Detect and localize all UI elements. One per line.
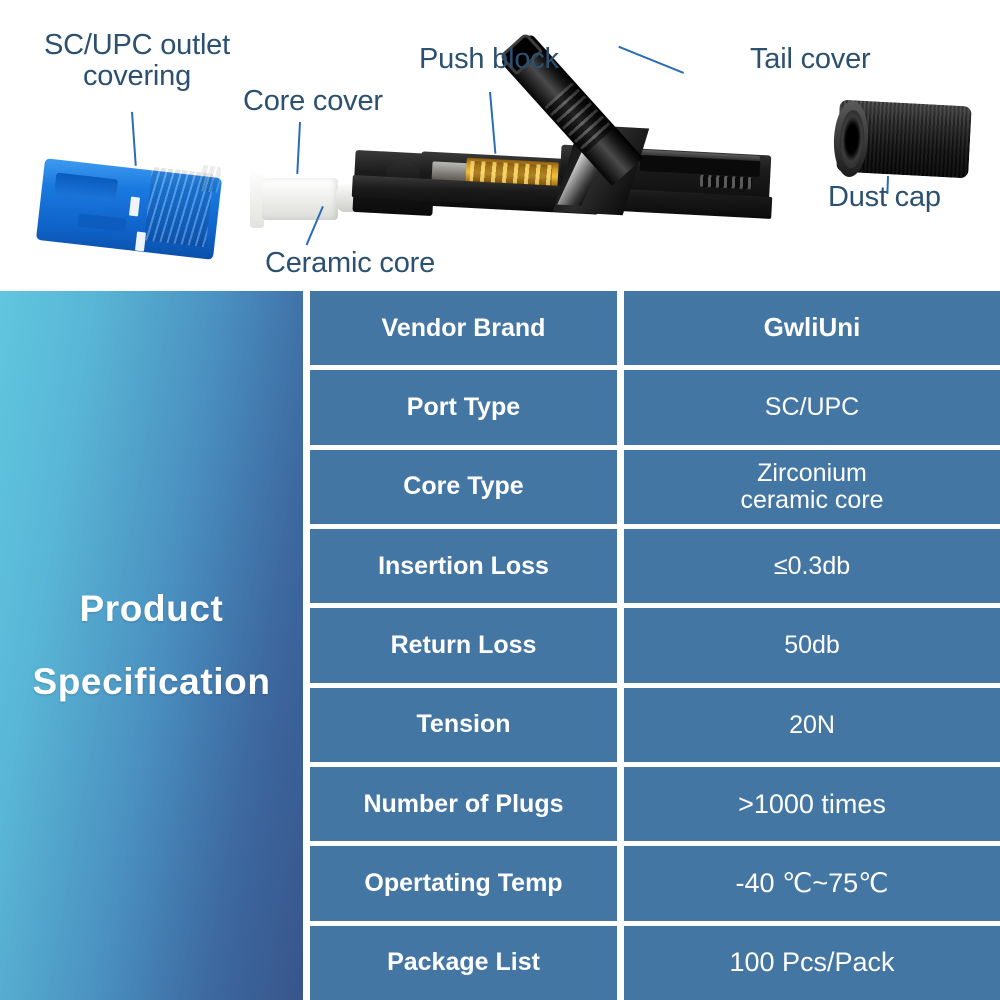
- table-row: Insertion Loss ≤0.3db: [310, 529, 1000, 603]
- annotation-sc-upc-outlet-covering: SC/UPC outlet covering: [22, 30, 252, 93]
- annotation-ceramic-core: Ceramic core: [265, 248, 435, 279]
- leader-line-sc-upc: [131, 112, 137, 166]
- table-row: Number of Plugs >1000 times: [310, 767, 1000, 841]
- spec-label-return-loss: Return Loss: [310, 608, 617, 682]
- spec-value-port-type: SC/UPC: [624, 370, 1000, 444]
- spec-value-package-list: 100 Pcs/Pack: [624, 926, 1000, 1000]
- spec-label-vendor-brand: Vendor Brand: [310, 291, 617, 365]
- annotation-push-block: Push block: [419, 44, 559, 75]
- table-row: Opertating Temp -40 ℃~75℃: [310, 846, 1000, 920]
- spec-value-number-of-plugs: >1000 times: [624, 767, 1000, 841]
- table-row: Core Type Zirconium ceramic core: [310, 450, 1000, 524]
- annotation-tail-cover: Tail cover: [750, 44, 871, 75]
- spec-label-package-list: Package List: [310, 926, 617, 1000]
- spec-label-operating-temp: Opertating Temp: [310, 846, 617, 920]
- spec-label-core-type: Core Type: [310, 450, 617, 524]
- leader-line-tail-cover: [618, 46, 684, 74]
- spec-label-port-type: Port Type: [310, 370, 617, 444]
- product-spec-page: SC/UPC outlet covering Core cover Cerami…: [0, 0, 1000, 1000]
- spec-value-operating-temp: -40 ℃~75℃: [624, 846, 1000, 920]
- sc-connector-end-texture: [199, 165, 222, 193]
- leader-line-core-cover: [296, 122, 301, 174]
- spec-label-insertion-loss: Insertion Loss: [310, 529, 617, 603]
- annotation-dust-cap: Dust cap: [828, 182, 941, 213]
- spec-label-number-of-plugs: Number of Plugs: [310, 767, 617, 841]
- page-title: Product Specification: [32, 573, 270, 717]
- spec-value-insertion-loss: ≤0.3db: [624, 529, 1000, 603]
- table-row: Return Loss 50db: [310, 608, 1000, 682]
- leader-line-push-block: [489, 92, 496, 154]
- spec-value-vendor-brand: GwliUni: [624, 291, 1000, 365]
- table-row: Vendor Brand GwliUni: [310, 291, 1000, 365]
- annotation-core-cover: Core cover: [243, 86, 383, 117]
- spec-title-panel: Product Specification: [0, 291, 303, 1000]
- spec-label-tension: Tension: [310, 688, 617, 762]
- specification-table: Vendor Brand GwliUni Port Type SC/UPC Co…: [310, 291, 1000, 1000]
- spec-value-core-type: Zirconium ceramic core: [624, 450, 1000, 524]
- table-row: Package List 100 Pcs/Pack: [310, 926, 1000, 1000]
- spec-value-tension: 20N: [624, 688, 1000, 762]
- exploded-connector-diagram: SC/UPC outlet covering Core cover Cerami…: [0, 0, 1000, 291]
- core-cover-body: [262, 178, 338, 220]
- table-row: Tension 20N: [310, 688, 1000, 762]
- spec-value-return-loss: 50db: [624, 608, 1000, 682]
- product-specification-section: Product Specification Vendor Brand GwliU…: [0, 291, 1000, 1000]
- table-row: Port Type SC/UPC: [310, 370, 1000, 444]
